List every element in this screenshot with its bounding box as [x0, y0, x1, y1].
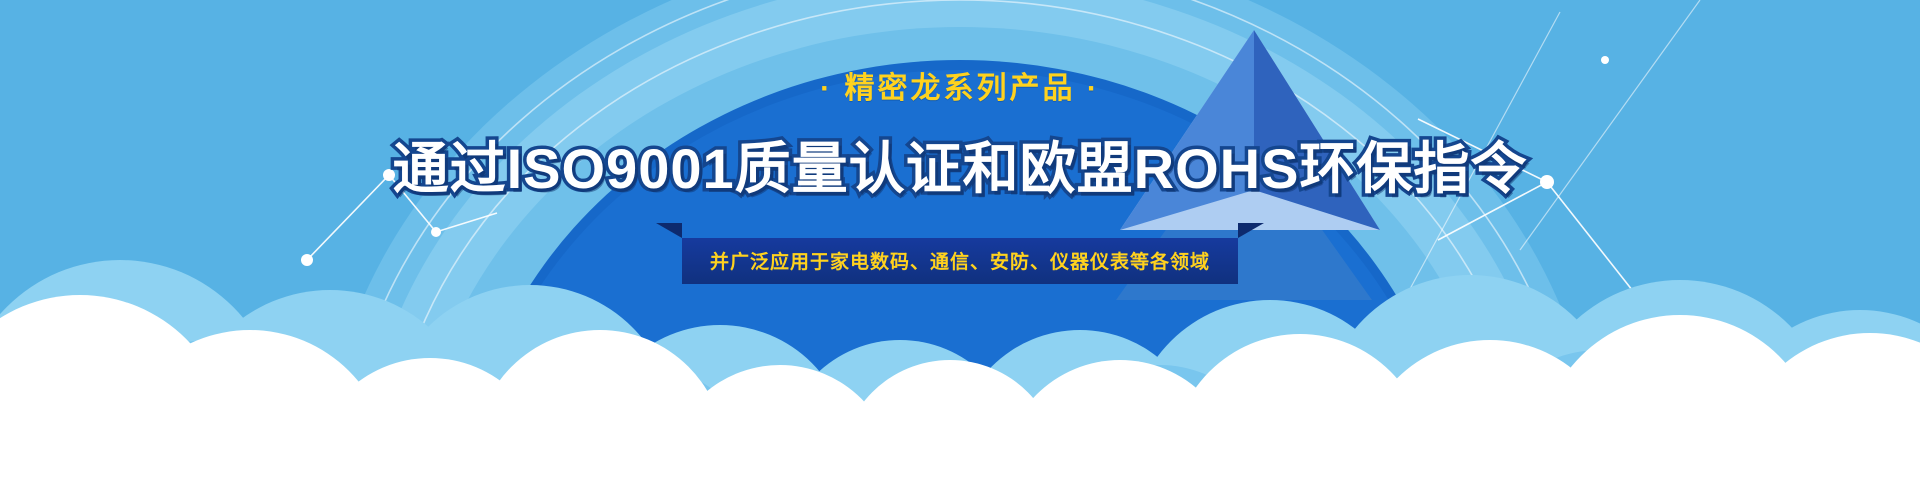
promo-banner: · 精密龙系列产品 · 通过ISO9001质量认证和欧盟ROHS环保指令 并广泛… [0, 0, 1920, 480]
cloud-band [0, 0, 1920, 480]
